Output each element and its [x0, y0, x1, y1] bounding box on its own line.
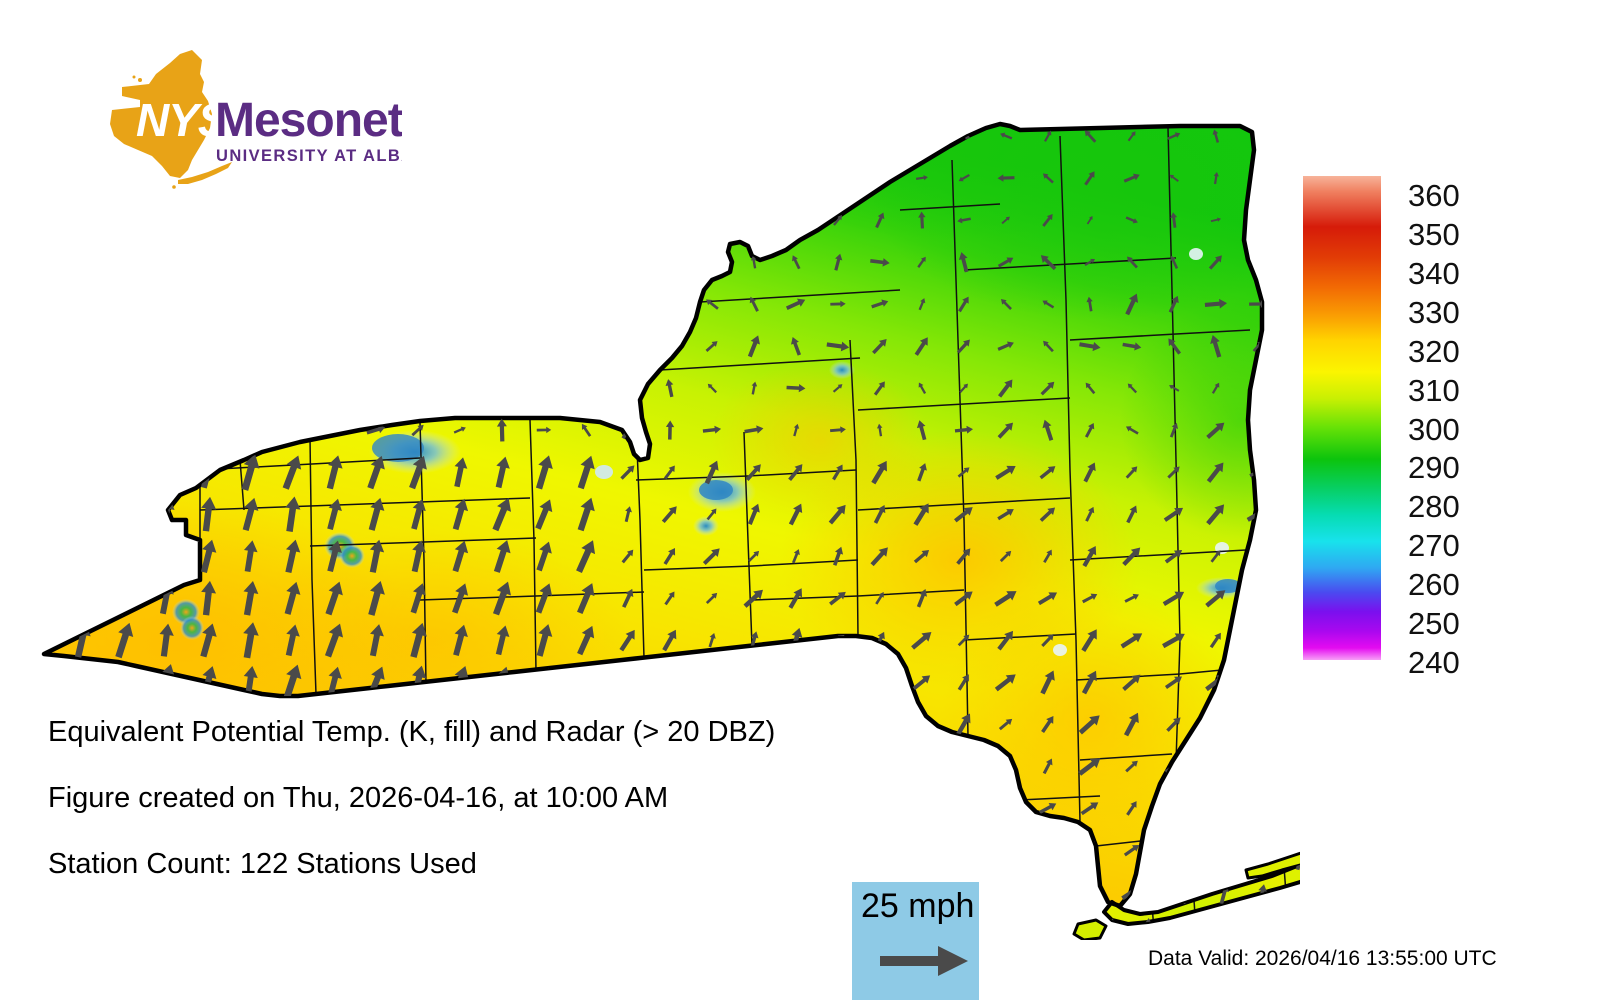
- wind-arrow: [410, 129, 427, 143]
- colorbar-gradient: [1303, 176, 1381, 660]
- wind-arrow: [1165, 801, 1183, 815]
- wind-arrow: [284, 252, 301, 271]
- wind-arrow: [876, 130, 885, 142]
- wind-arrow: [955, 800, 973, 815]
- wind-arrow: [200, 174, 216, 181]
- wind-arrow: [33, 255, 47, 269]
- wind-arrow: [76, 127, 89, 145]
- wind-arrow: [1252, 215, 1265, 224]
- wind-arrow: [70, 915, 94, 940]
- colorbar-tick-360: 360: [1408, 180, 1460, 211]
- caption-line-title: Equivalent Potential Temp. (K, fill) and…: [48, 718, 948, 747]
- wind-arrow: [1207, 715, 1225, 733]
- wind-arrow: [1294, 883, 1300, 904]
- wind-arrow: [456, 173, 465, 182]
- wind-arrow: [746, 132, 762, 140]
- wind-arrow: [239, 337, 261, 356]
- wind-arrow: [201, 383, 215, 392]
- wind-arrow: [33, 427, 46, 434]
- wind-arrow: [1251, 175, 1265, 182]
- wind-arrow: [328, 380, 339, 397]
- wind-arrow: [664, 217, 676, 223]
- wind-arrow: [70, 662, 95, 701]
- wind-arrow: [999, 798, 1014, 819]
- wind-arrow: [411, 339, 424, 354]
- wind-arrow: [1179, 849, 1193, 871]
- wind-arrow: [32, 213, 48, 227]
- radar-cell: [595, 465, 613, 479]
- wind-arrow: [112, 495, 136, 534]
- wind-arrow: [494, 215, 509, 225]
- wind-arrow: [494, 376, 510, 399]
- wind-arrow: [159, 340, 173, 352]
- wind-arrow: [157, 130, 175, 141]
- wind-arrow: [244, 255, 256, 270]
- wind-arrow: [1143, 884, 1153, 904]
- wind-arrow: [791, 214, 801, 226]
- wind-arrow: [31, 299, 49, 310]
- wind-arrow: [31, 496, 49, 532]
- wind-arrow: [30, 455, 49, 490]
- wind-arrow: [494, 170, 510, 185]
- wind-arrow: [77, 211, 87, 228]
- wind-arrow: [70, 536, 93, 575]
- wind-arrow: [454, 298, 467, 309]
- wind-arrow: [1039, 840, 1056, 861]
- wind-arrow: [1249, 840, 1268, 860]
- wind-arrow: [237, 915, 263, 940]
- wind-arrow: [155, 538, 176, 574]
- wind-arrow: [199, 294, 218, 314]
- wind-arrow: [829, 670, 847, 695]
- wind-arrow: [34, 171, 46, 185]
- wind-arrow: [747, 923, 761, 940]
- wind-arrow: [665, 339, 675, 352]
- wind-arrow: [326, 336, 342, 357]
- wind-scale-label: 25 mph: [861, 888, 974, 924]
- wind-arrow: [708, 173, 717, 183]
- wind-arrow: [621, 342, 634, 349]
- wind-arrow: [622, 257, 634, 268]
- wind-arrow: [114, 254, 134, 269]
- wind-arrow: [658, 922, 681, 940]
- wind-arrow: [31, 384, 48, 392]
- wind-arrow: [241, 418, 260, 442]
- wind-arrow: [114, 537, 133, 575]
- wind-arrow: [496, 129, 509, 143]
- wind-arrow: [113, 914, 135, 940]
- wind-arrow: [283, 426, 300, 435]
- wind-arrow: [1204, 924, 1227, 940]
- wind-arrow: [622, 173, 634, 184]
- wind-arrow: [157, 455, 176, 490]
- wind-arrow: [79, 172, 84, 184]
- wind-arrow: [1248, 632, 1268, 648]
- wind-arrow: [490, 915, 514, 940]
- wind-arrow: [287, 131, 296, 141]
- wind-arrow: [537, 174, 550, 182]
- wind-arrow: [1038, 925, 1058, 940]
- wind-arrow: [201, 425, 215, 434]
- wind-arrow: [197, 337, 219, 355]
- wind-arrow: [73, 377, 91, 399]
- wind-arrow: [1249, 591, 1267, 606]
- wind-arrow: [157, 255, 174, 269]
- wind-arrow: [536, 212, 553, 228]
- wind-arrow: [122, 173, 127, 183]
- wind-arrow: [873, 173, 887, 184]
- wind-arrow: [30, 916, 50, 940]
- wind-arrow: [243, 171, 256, 186]
- wind-arrow: [72, 495, 91, 533]
- wind-arrow: [115, 342, 134, 351]
- wind-arrow: [330, 215, 338, 225]
- wind-arrow: [413, 298, 423, 310]
- wind-arrow: [1248, 756, 1268, 776]
- wind-arrow: [490, 339, 514, 352]
- wind-arrow: [322, 297, 346, 310]
- wind-arrow: [1205, 839, 1227, 861]
- wind-arrow: [1246, 921, 1270, 940]
- wind-arrow: [705, 673, 718, 690]
- wind-arrow: [535, 254, 552, 270]
- wind-arrow: [30, 705, 50, 744]
- wind-arrow: [746, 669, 762, 694]
- wind-arrow: [157, 423, 175, 438]
- radar-cell: [339, 544, 365, 568]
- wind-arrow: [620, 926, 635, 940]
- wind-arrow: [1254, 424, 1261, 436]
- wind-arrow: [455, 133, 465, 140]
- wind-arrow: [1218, 917, 1231, 938]
- colorbar-tick-240: 240: [1408, 647, 1460, 678]
- wind-arrow: [1202, 754, 1230, 777]
- wind-arrow: [578, 131, 594, 141]
- wind-arrow: [664, 674, 675, 689]
- wind-arrow: [790, 132, 803, 141]
- wind-arrow: [705, 212, 719, 227]
- wind-reference-arrow-icon: [880, 944, 970, 978]
- staten-island-outline: [1074, 920, 1106, 940]
- colorbar-tick-260: 260: [1408, 569, 1460, 600]
- colorbar-tick-330: 330: [1408, 297, 1460, 328]
- wind-arrow: [532, 916, 556, 940]
- wind-arrow: [955, 842, 974, 857]
- wind-arrow: [322, 916, 347, 940]
- wind-arrow: [331, 131, 338, 141]
- wind-arrow: [664, 175, 676, 182]
- wind-arrow: [196, 915, 220, 940]
- wind-arrow: [580, 256, 592, 267]
- radar-cell: [180, 616, 204, 640]
- colorbar-tick-320: 320: [1408, 336, 1460, 367]
- wind-arrow: [575, 297, 598, 311]
- wind-arrow: [704, 131, 721, 141]
- wind-arrow: [73, 455, 92, 490]
- wind-arrow: [412, 217, 423, 222]
- wind-arrow: [242, 300, 258, 309]
- radar-cell: [852, 654, 872, 670]
- wind-arrow: [1249, 548, 1268, 563]
- caption-line-stations: Station Count: 122 Stations Used: [48, 850, 948, 879]
- colorbar: 360350340330320310300290280270260250240: [1303, 176, 1593, 666]
- wind-arrow: [31, 663, 50, 702]
- wind-arrow: [154, 295, 179, 314]
- wind-arrow: [449, 377, 470, 399]
- wind-arrow: [327, 254, 340, 270]
- wind-arrow: [414, 381, 422, 395]
- wind-arrow: [30, 580, 50, 616]
- wind-arrow: [30, 538, 49, 575]
- wind-arrow: [117, 130, 131, 142]
- wind-arrow: [33, 341, 46, 352]
- wind-arrow: [786, 668, 806, 696]
- wind-arrow: [114, 453, 134, 491]
- wind-arrow: [830, 132, 845, 140]
- wind-arrow: [575, 664, 597, 700]
- wind-arrow: [998, 843, 1014, 857]
- colorbar-tick-310: 310: [1408, 375, 1460, 406]
- wind-arrow: [286, 173, 298, 183]
- colorbar-tick-290: 290: [1408, 452, 1460, 483]
- wind-arrow: [532, 381, 556, 394]
- wind-arrow: [79, 424, 86, 437]
- wind-arrow: [662, 253, 679, 271]
- wind-arrow: [244, 132, 256, 141]
- wind-arrow: [286, 216, 298, 224]
- wind-arrow: [119, 213, 129, 228]
- wind-arrow: [367, 378, 385, 398]
- colorbar-tick-350: 350: [1408, 219, 1460, 250]
- wind-arrow: [370, 256, 383, 269]
- wind-arrow: [453, 258, 466, 265]
- wind-arrow: [199, 131, 217, 141]
- wind-arrow: [498, 255, 507, 268]
- wind-arrow: [447, 915, 474, 940]
- colorbar-tick-270: 270: [1408, 530, 1460, 561]
- wind-arrow: [830, 923, 846, 940]
- wind-arrow: [1040, 882, 1055, 902]
- wind-arrow: [1248, 671, 1268, 694]
- wind-arrow: [456, 340, 463, 352]
- wind-arrow: [576, 376, 596, 400]
- wind-arrow: [74, 337, 90, 355]
- wind-arrow: [35, 130, 46, 142]
- wind-arrow: [241, 214, 258, 227]
- wind-arrow: [746, 173, 762, 183]
- wind-arrow: [623, 133, 633, 138]
- wind-arrow: [574, 916, 597, 940]
- wind-arrow: [289, 340, 295, 352]
- wind-arrow: [71, 579, 92, 616]
- wind-arrow: [706, 924, 718, 940]
- wind-arrow: [1295, 918, 1300, 939]
- figure-caption: Equivalent Potential Temp. (K, fill) and…: [48, 718, 948, 916]
- wind-arrow: [369, 216, 384, 224]
- wind-arrow: [1166, 883, 1182, 901]
- wind-arrow: [621, 674, 635, 690]
- wind-arrow: [1244, 797, 1271, 819]
- wind-arrow: [287, 381, 298, 395]
- wind-arrow: [1219, 850, 1229, 871]
- wind-arrow: [1254, 382, 1261, 394]
- wind-arrow: [661, 295, 678, 313]
- wind-arrow: [497, 298, 508, 310]
- wind-arrow: [1084, 883, 1097, 900]
- radar-cell: [693, 516, 719, 536]
- wind-arrow: [118, 383, 130, 394]
- wind-arrow: [997, 883, 1014, 901]
- wind-arrow: [581, 171, 592, 185]
- wind-arrow: [536, 338, 552, 354]
- wind-arrow: [160, 175, 171, 181]
- wind-arrow: [746, 216, 762, 223]
- wind-arrow: [455, 214, 464, 226]
- wind-arrow: [997, 927, 1015, 940]
- wind-arrow: [368, 132, 383, 141]
- wind-arrow: [71, 252, 92, 272]
- wind-arrow: [331, 172, 337, 185]
- radar-cell: [699, 480, 733, 500]
- wind-arrow: [623, 215, 634, 224]
- wind-arrow: [538, 301, 549, 306]
- wind-arrow: [412, 173, 423, 182]
- colorbar-tick-340: 340: [1408, 258, 1460, 289]
- wind-arrow: [367, 338, 384, 354]
- wind-arrow: [73, 294, 91, 314]
- wind-arrow: [793, 173, 798, 184]
- wind-arrow: [956, 759, 971, 772]
- wind-arrow: [283, 300, 300, 308]
- wind-arrow: [662, 130, 678, 142]
- wind-arrow: [1246, 711, 1270, 736]
- wind-arrow: [871, 671, 889, 693]
- wind-arrow: [159, 215, 173, 225]
- colorbar-tick-250: 250: [1408, 608, 1460, 639]
- radar-cell: [1189, 248, 1203, 260]
- wind-arrow: [1258, 918, 1267, 938]
- wind-arrow: [1124, 927, 1139, 940]
- wind-arrow: [1210, 800, 1223, 815]
- wind-arrow: [832, 175, 844, 181]
- wind-scale-legend: 25 mph: [852, 882, 979, 1000]
- wind-arrow: [242, 378, 259, 398]
- wind-arrow: [580, 335, 591, 356]
- wind-arrow: [199, 256, 217, 268]
- colorbar-tick-280: 280: [1408, 491, 1460, 522]
- wind-arrow: [1166, 927, 1182, 940]
- wind-arrow: [916, 133, 928, 139]
- wind-arrow: [161, 378, 170, 398]
- wind-arrow: [1167, 841, 1181, 859]
- wind-arrow: [112, 662, 135, 701]
- wind-arrow: [1180, 917, 1192, 938]
- wind-arrow: [700, 251, 724, 273]
- wind-arrow: [411, 258, 424, 266]
- colorbar-tick-300: 300: [1408, 414, 1460, 445]
- wind-arrow: [156, 916, 176, 940]
- wind-arrow: [117, 295, 131, 314]
- wind-arrow: [784, 922, 808, 940]
- colorbar-tick-labels: 360350340330320310300290280270260250240: [1408, 160, 1588, 676]
- wind-arrow: [201, 212, 214, 228]
- wind-arrow: [535, 130, 553, 143]
- wind-arrow: [282, 915, 302, 940]
- wind-arrow: [1141, 849, 1155, 871]
- wind-arrow: [619, 296, 636, 311]
- wind-arrow: [365, 299, 386, 308]
- wind-arrow: [113, 424, 134, 436]
- data-valid-timestamp: Data Valid: 2026/04/16 13:55:00 UTC: [1148, 948, 1497, 969]
- caption-line-created: Figure created on Thu, 2026-04-16, at 10…: [48, 784, 948, 813]
- wind-arrow: [369, 171, 384, 186]
- wind-arrow: [580, 215, 592, 224]
- radar-cell: [1053, 644, 1067, 656]
- wind-arrow: [621, 379, 635, 397]
- wind-arrow: [364, 915, 388, 940]
- wind-arrow: [407, 915, 430, 940]
